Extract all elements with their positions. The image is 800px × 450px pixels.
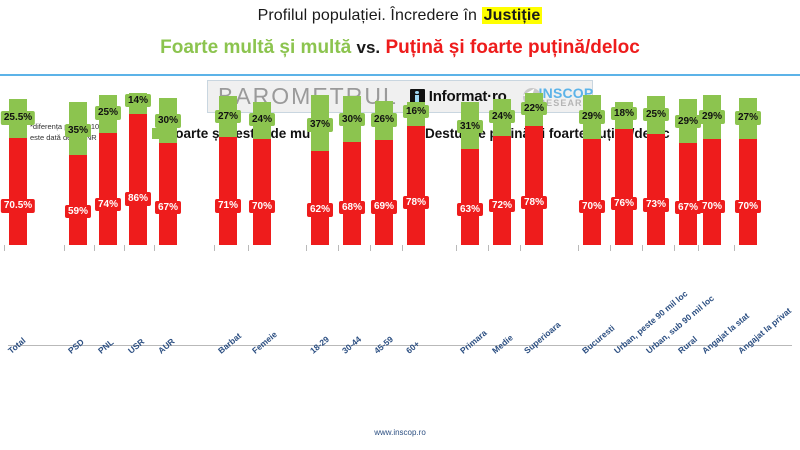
axis-tick <box>370 245 371 251</box>
axis-tick <box>642 245 643 251</box>
bar-column[interactable]: 67%29% <box>679 99 697 245</box>
bar-value-label-red: 70.5% <box>1 199 35 213</box>
bar-value-label-green: 25% <box>95 106 121 120</box>
chart-category-labels: TotalPSDPNLUSRAURBarbatFemeie18-2930-444… <box>0 348 800 428</box>
bar-value-label-green: 25% <box>643 108 669 122</box>
axis-tick <box>488 245 489 251</box>
axis-tick <box>578 245 579 251</box>
bar-column[interactable]: 67%30% <box>159 98 177 245</box>
legend-label-green: Foarte și destul de multă <box>167 126 326 141</box>
bar-column[interactable]: 78%22% <box>525 93 543 245</box>
bar-value-label-red: 74% <box>95 198 121 212</box>
chart-x-axis <box>8 345 792 346</box>
axis-tick <box>64 245 65 251</box>
axis-tick <box>610 245 611 251</box>
bar-segment-red[interactable] <box>219 137 237 245</box>
bar-value-label-red: 71% <box>215 199 241 213</box>
bar-value-label-green: 29% <box>699 110 725 124</box>
bar-value-label-red: 76% <box>611 197 637 211</box>
bar-segment-red[interactable] <box>703 139 721 245</box>
bar-segment-red[interactable] <box>129 114 147 245</box>
legend-item-green: Foarte și destul de multă <box>152 126 326 141</box>
axis-tick <box>734 245 735 251</box>
bar-value-label-red: 78% <box>403 196 429 210</box>
bar-column[interactable]: 70.5%25.5% <box>9 99 27 245</box>
page-title-highlight: Justiție <box>482 7 543 24</box>
bar-column[interactable]: 68%30% <box>343 96 361 245</box>
bar-value-label-red: 62% <box>307 203 333 217</box>
bar-value-label-red: 70% <box>249 200 275 214</box>
bar-column[interactable]: 70%27% <box>739 98 757 245</box>
bar-value-label-red: 67% <box>675 201 701 215</box>
axis-tick <box>520 245 521 251</box>
subtitle-red-part: Puțină și foarte puțină/deloc <box>385 37 639 58</box>
axis-tick <box>214 245 215 251</box>
bar-segment-red[interactable] <box>461 149 479 245</box>
bar-value-label-red: 78% <box>521 196 547 210</box>
bar-column[interactable]: 72%24% <box>493 99 511 245</box>
bar-value-label-green: 18% <box>611 107 637 121</box>
bar-column[interactable]: 62%37% <box>311 95 329 245</box>
bar-value-label-green: 29% <box>579 110 605 124</box>
bar-column[interactable]: 86%14% <box>129 93 147 245</box>
bar-value-label-green: 14% <box>125 94 151 108</box>
bar-segment-red[interactable] <box>159 143 177 245</box>
bar-segment-red[interactable] <box>493 136 511 245</box>
bar-segment-red[interactable] <box>69 155 87 245</box>
bar-segment-red[interactable] <box>9 138 27 245</box>
bar-value-label-red: 59% <box>65 205 91 219</box>
bar-value-label-green: 27% <box>735 111 761 125</box>
axis-tick <box>306 245 307 251</box>
bar-segment-red[interactable] <box>615 129 633 245</box>
bar-segment-red[interactable] <box>99 133 117 245</box>
bar-column[interactable]: 70%24% <box>253 102 271 245</box>
bar-value-label-green: 37% <box>307 118 333 132</box>
axis-tick <box>402 245 403 251</box>
page-title-prefix: Profilul populației. Încredere în <box>258 7 482 24</box>
bar-value-label-green: 16% <box>403 105 429 119</box>
bar-segment-red[interactable] <box>311 151 329 245</box>
bar-segment-red[interactable] <box>375 140 393 245</box>
bar-segment-red[interactable] <box>647 134 665 245</box>
bar-column[interactable]: 78%16% <box>407 102 425 245</box>
axis-tick <box>124 245 125 251</box>
footer-url: www.inscop.ro <box>0 428 800 437</box>
bar-column[interactable]: 59%35% <box>69 102 87 245</box>
axis-tick <box>154 245 155 251</box>
axis-tick <box>698 245 699 251</box>
bar-segment-red[interactable] <box>739 139 757 245</box>
bar-value-label-green: 24% <box>249 113 275 127</box>
bar-value-label-green: 22% <box>521 102 547 116</box>
bar-value-label-red: 69% <box>371 200 397 214</box>
bar-segment-red[interactable] <box>343 142 361 245</box>
page-subtitle: Foarte multă și multă vs. Puțină și foar… <box>0 37 800 59</box>
bar-column[interactable]: 73%25% <box>647 96 665 245</box>
bar-column[interactable]: 76%18% <box>615 102 633 245</box>
bar-segment-red[interactable] <box>525 126 543 245</box>
bar-value-label-red: 70% <box>735 200 761 214</box>
bar-value-label-red: 73% <box>643 198 669 212</box>
bar-column[interactable]: 63%31% <box>461 102 479 245</box>
page-title: Profilul populației. Încredere în Justiț… <box>0 0 800 25</box>
bar-value-label-green: 35% <box>65 124 91 138</box>
bar-value-label-green: 29% <box>675 115 701 129</box>
bar-column[interactable]: 74%25% <box>99 95 117 245</box>
bar-segment-red[interactable] <box>583 139 601 245</box>
bar-value-label-green: 24% <box>489 110 515 124</box>
bar-column[interactable]: 70%29% <box>583 95 601 245</box>
axis-tick <box>94 245 95 251</box>
bar-column[interactable]: 71%27% <box>219 96 237 245</box>
bar-value-label-red: 67% <box>155 201 181 215</box>
bar-value-label-red: 86% <box>125 192 151 206</box>
bar-segment-red[interactable] <box>679 143 697 245</box>
bar-value-label-green: 30% <box>339 113 365 127</box>
bar-value-label-red: 70% <box>699 200 725 214</box>
bar-segment-red[interactable] <box>407 126 425 245</box>
bar-value-label-red: 72% <box>489 199 515 213</box>
bar-value-label-red: 70% <box>579 200 605 214</box>
bar-value-label-green: 30% <box>155 114 181 128</box>
bar-value-label-green: 26% <box>371 113 397 127</box>
subtitle-green-part: Foarte multă și multă <box>160 37 351 58</box>
axis-tick <box>248 245 249 251</box>
axis-tick <box>456 245 457 251</box>
bar-column[interactable]: 69%26% <box>375 101 393 245</box>
bar-segment-red[interactable] <box>253 139 271 245</box>
bar-value-label-red: 63% <box>457 203 483 217</box>
axis-tick <box>4 245 5 251</box>
header-divider <box>0 74 800 76</box>
bar-value-label-red: 68% <box>339 201 365 215</box>
bar-value-label-green: 25.5% <box>1 111 35 125</box>
axis-tick <box>674 245 675 251</box>
bar-value-label-green: 31% <box>457 120 483 134</box>
bar-column[interactable]: 70%29% <box>703 95 721 245</box>
axis-tick <box>338 245 339 251</box>
bar-value-label-green: 27% <box>215 110 241 124</box>
subtitle-vs: vs. <box>357 38 381 57</box>
